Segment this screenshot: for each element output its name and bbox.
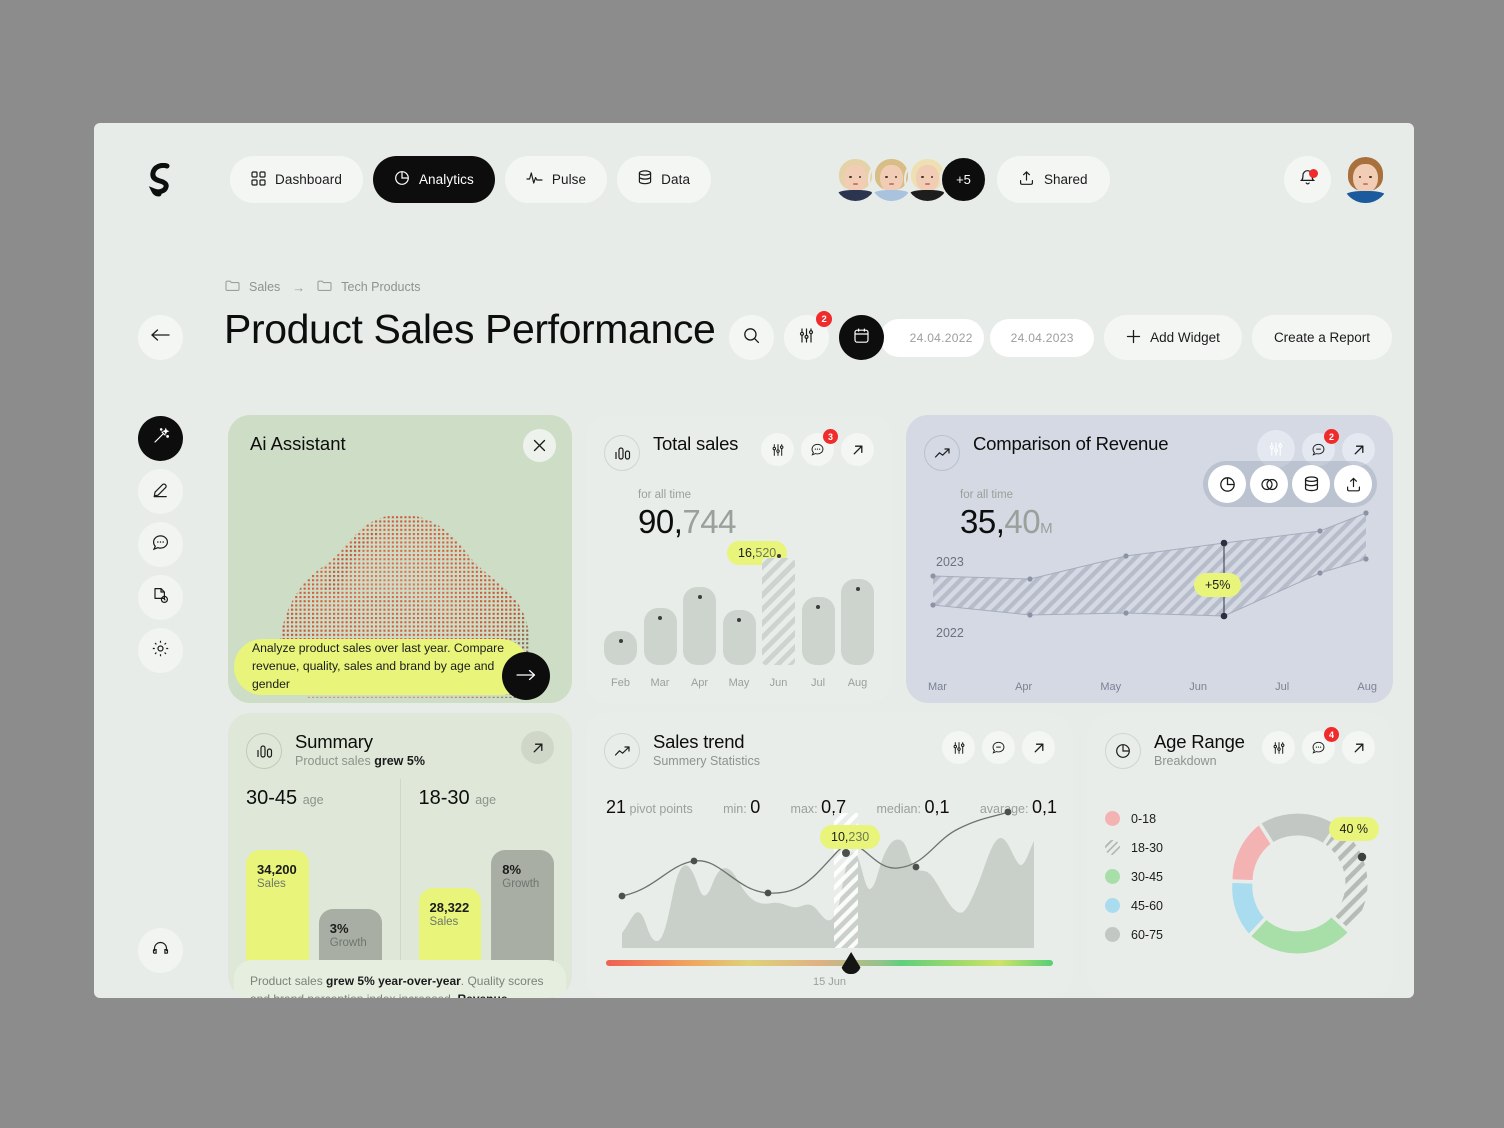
breadcrumb-item-tech-products[interactable]: Tech Products	[341, 280, 420, 294]
date-from-value: 24.04.2022	[910, 331, 973, 345]
bar-key: Growth	[330, 937, 382, 949]
bar-highlighted[interactable]	[762, 558, 795, 665]
nav-label: Analytics	[419, 172, 474, 187]
notification-dot	[1309, 169, 1318, 178]
bar[interactable]	[802, 597, 835, 665]
breadcrumb: Sales → Tech Products	[225, 279, 421, 295]
shared-button[interactable]: Shared	[997, 156, 1110, 203]
magic-wand-icon	[152, 427, 170, 450]
bar-label: Apr	[691, 677, 708, 689]
card-subtitle: Product sales grew 5%	[295, 754, 508, 768]
date-from-field[interactable]: 24.04.2022	[880, 319, 984, 357]
age-range-card: Age Range Breakdown 4 0	[1087, 713, 1393, 998]
legend-label: 60-75	[1131, 928, 1163, 942]
legend-item[interactable]: 18-30	[1105, 840, 1163, 855]
age-range-tooltip: 40 %	[1329, 817, 1380, 841]
value-caption: for all time	[638, 489, 736, 501]
tool-rail	[138, 416, 183, 673]
bar[interactable]	[841, 579, 874, 665]
headset-support-icon	[151, 939, 170, 963]
sales-trend-area-chart	[586, 713, 1073, 998]
filter-button[interactable]: 2	[784, 315, 829, 360]
bar-label: Mar	[651, 677, 670, 689]
plus-icon	[1126, 329, 1141, 347]
back-button[interactable]	[138, 315, 183, 360]
ai-submit-button[interactable]	[502, 652, 550, 700]
breadcrumb-separator: →	[289, 280, 308, 295]
card-subtitle: Breakdown	[1154, 754, 1249, 768]
avatar-overflow-count[interactable]: +5	[940, 156, 987, 203]
legend-swatch	[1105, 840, 1120, 855]
legend-label: 30-45	[1131, 870, 1163, 884]
shared-avatars: +5 Shared	[832, 156, 1110, 203]
rail-item-highlighter[interactable]	[138, 469, 183, 514]
bar-chart-icon	[246, 733, 282, 769]
card-actions	[521, 731, 554, 764]
ai-assistant-card: Ai Assistant	[228, 415, 572, 703]
bar[interactable]	[644, 608, 677, 665]
nav-label: Data	[661, 172, 690, 187]
axis-tick: Mar	[928, 681, 947, 693]
bar-label: Feb	[611, 677, 630, 689]
nav-label: Dashboard	[275, 172, 342, 187]
search-icon	[743, 327, 760, 349]
bar[interactable]	[723, 610, 756, 665]
bar-value: 34,200	[257, 862, 309, 877]
legend-swatch	[1105, 898, 1120, 913]
total-sales-card: Total sales 3 for all time	[586, 415, 892, 703]
bar-value: 8%	[502, 862, 554, 877]
bar-column: Mar	[644, 608, 677, 665]
bar-label: Aug	[848, 677, 868, 689]
filter-icon[interactable]	[761, 433, 794, 466]
bar-dot	[777, 554, 781, 558]
bar-label: Jul	[811, 677, 825, 689]
age-range-legend: 0-18 18-30 30-45 45-60 60-75	[1105, 811, 1163, 942]
group-label: 18-30 age	[419, 787, 497, 810]
ai-prompt-text: Analyze product sales over last year. Co…	[252, 640, 511, 693]
notifications-button[interactable]	[1284, 156, 1331, 203]
card-title: Summary	[295, 731, 508, 753]
card-title: Age Range	[1154, 731, 1249, 753]
highlighter-icon	[151, 480, 170, 504]
nav-item-data[interactable]: Data	[617, 156, 711, 203]
page-toolbar: 2 24.04.2022 24.04.2023 Add Widget Creat…	[729, 315, 1392, 360]
comparison-area-chart	[906, 415, 1393, 703]
expand-arrow-icon[interactable]	[1342, 731, 1375, 764]
pie-chart-icon	[394, 170, 410, 189]
bar-label: Jun	[770, 677, 788, 689]
card-header: Total sales 3	[586, 415, 892, 471]
brand-logo[interactable]	[140, 159, 182, 201]
bar-key: Sales	[430, 916, 482, 928]
rail-item-support[interactable]	[138, 928, 183, 973]
legend-swatch	[1105, 927, 1120, 942]
avatar-overflow-label: +5	[956, 172, 971, 187]
bar-key: Sales	[257, 878, 309, 890]
search-button[interactable]	[729, 315, 774, 360]
card-title: Total sales	[653, 433, 748, 455]
document-clock-icon	[151, 586, 170, 610]
bar-column: Apr	[683, 587, 716, 665]
widget-grid: Ai Assistant	[228, 415, 1393, 998]
axis-tick: Aug	[1357, 681, 1377, 693]
bar-column: Aug	[841, 579, 874, 665]
filter-icon	[798, 327, 815, 349]
top-right-actions	[1284, 156, 1389, 203]
sales-trend-tooltip: 10,230	[820, 825, 880, 849]
date-to-field[interactable]: 24.04.2023	[990, 319, 1094, 357]
bar-column: Jun	[762, 558, 795, 665]
arrow-right-icon	[516, 666, 536, 686]
shared-label: Shared	[1044, 172, 1088, 187]
calendar-button[interactable]	[839, 315, 884, 360]
ai-prompt-input[interactable]: Analyze product sales over last year. Co…	[234, 639, 529, 695]
bar-dot	[737, 618, 741, 622]
tooltip-dim: 230	[848, 830, 869, 844]
folder-icon	[225, 279, 240, 295]
legend-label: 45-60	[1131, 899, 1163, 913]
legend-item[interactable]: 45-60	[1105, 898, 1163, 913]
sales-trend-card: Sales trend Summery Statistics 21 p	[586, 713, 1073, 998]
total-sales-value: 90,744	[638, 505, 736, 538]
legend-item[interactable]: 0-18	[1105, 811, 1163, 826]
page-title: Product Sales Performance	[224, 306, 715, 353]
nav-item-dashboard[interactable]: Dashboard	[230, 156, 363, 203]
tooltip-main: 10,	[831, 830, 848, 844]
bar-column: Jul	[802, 597, 835, 665]
gear-icon	[151, 639, 170, 663]
bar-label: May	[729, 677, 750, 689]
add-widget-label: Add Widget	[1150, 330, 1220, 345]
slider-label: 15 Jun	[813, 976, 846, 988]
close-icon[interactable]	[523, 429, 556, 462]
comparison-tooltip: +5%	[1194, 573, 1241, 597]
legend-swatch	[1105, 869, 1120, 884]
nav-item-analytics[interactable]: Analytics	[373, 156, 495, 203]
donut-highlight-dot	[1358, 853, 1366, 861]
card-actions: 4	[1262, 731, 1375, 764]
axis-tick: May	[1100, 681, 1121, 693]
main-nav: Dashboard Analytics Pulse Data	[230, 156, 711, 203]
ai-assistant-title: Ai Assistant	[250, 433, 346, 455]
user-avatar[interactable]	[1342, 156, 1389, 203]
create-report-label: Create a Report	[1274, 330, 1370, 345]
bar-dot	[658, 616, 662, 620]
rail-item-comments[interactable]	[138, 522, 183, 567]
card-actions: 3	[761, 433, 874, 466]
dashboard-window: Dashboard Analytics Pulse Data	[94, 123, 1414, 998]
axis-tick: Apr	[1015, 681, 1032, 693]
bar-column: May	[723, 610, 756, 665]
pulse-icon	[526, 171, 543, 188]
legend-label: 0-18	[1131, 812, 1156, 826]
database-icon	[638, 170, 652, 189]
legend-item[interactable]: 30-45	[1105, 869, 1163, 884]
comment-badge: 4	[1324, 727, 1339, 742]
expand-arrow-icon[interactable]	[841, 433, 874, 466]
bar-key: Growth	[502, 878, 554, 890]
bar[interactable]	[683, 587, 716, 665]
breadcrumb-item-sales[interactable]: Sales	[249, 280, 280, 294]
card-header: Age Range Breakdown 4	[1087, 713, 1393, 769]
legend-label: 18-30	[1131, 841, 1163, 855]
bar-dot	[619, 639, 623, 643]
pie-chart-icon	[1105, 733, 1141, 769]
arrow-left-icon	[151, 328, 170, 347]
card-header: Summary Product sales grew 5%	[228, 713, 572, 769]
total-sales-bar-chart: Feb Mar Apr May Jun Jul Aug	[604, 535, 874, 665]
calendar-icon	[853, 327, 870, 349]
bar-dot	[698, 595, 702, 599]
folder-icon	[317, 279, 332, 295]
rail-item-settings[interactable]	[138, 628, 183, 673]
bar-dot	[856, 587, 860, 591]
bar-value: 28,322	[430, 900, 482, 915]
grid-icon	[251, 171, 266, 189]
total-sales-value-block: for all time 90,744	[638, 489, 736, 538]
expand-arrow-icon[interactable]	[521, 731, 554, 764]
comparison-revenue-card: Comparison of Revenue 2	[906, 415, 1393, 703]
comment-icon[interactable]: 3	[801, 433, 834, 466]
time-slider[interactable]	[606, 960, 1053, 966]
chat-bubble-icon	[151, 533, 170, 557]
legend-item[interactable]: 60-75	[1105, 927, 1163, 942]
filter-icon[interactable]	[1262, 731, 1295, 764]
date-range: 24.04.2022 24.04.2023	[880, 319, 1094, 357]
bar-value: 3%	[330, 921, 382, 936]
summary-card: Summary Product sales grew 5% 30-45 age …	[228, 713, 572, 998]
comparison-x-axis: Mar Apr May Jun Jul Aug	[928, 681, 1377, 693]
bar-dot	[816, 605, 820, 609]
bar-column: Feb	[604, 631, 637, 665]
top-bar: Dashboard Analytics Pulse Data	[94, 123, 1414, 235]
upload-icon	[1019, 170, 1034, 189]
comment-badge: 3	[823, 429, 838, 444]
comment-icon[interactable]: 4	[1302, 731, 1335, 764]
group-label: 30-45 age	[246, 787, 324, 810]
axis-tick: Jul	[1275, 681, 1289, 693]
legend-swatch	[1105, 811, 1120, 826]
summary-note: Product sales grew 5% year-over-year. Qu…	[234, 960, 566, 998]
nav-item-pulse[interactable]: Pulse	[505, 156, 607, 203]
axis-tick: Jun	[1189, 681, 1207, 693]
date-to-value: 24.04.2023	[1011, 331, 1074, 345]
create-report-button[interactable]: Create a Report	[1252, 315, 1392, 360]
add-widget-button[interactable]: Add Widget	[1104, 315, 1242, 360]
rail-item-document-history[interactable]	[138, 575, 183, 620]
nav-label: Pulse	[552, 172, 586, 187]
bar-chart-icon	[604, 435, 640, 471]
filter-badge: 2	[816, 311, 832, 327]
rail-item-magic-wand[interactable]	[138, 416, 183, 461]
bar[interactable]	[604, 631, 637, 665]
